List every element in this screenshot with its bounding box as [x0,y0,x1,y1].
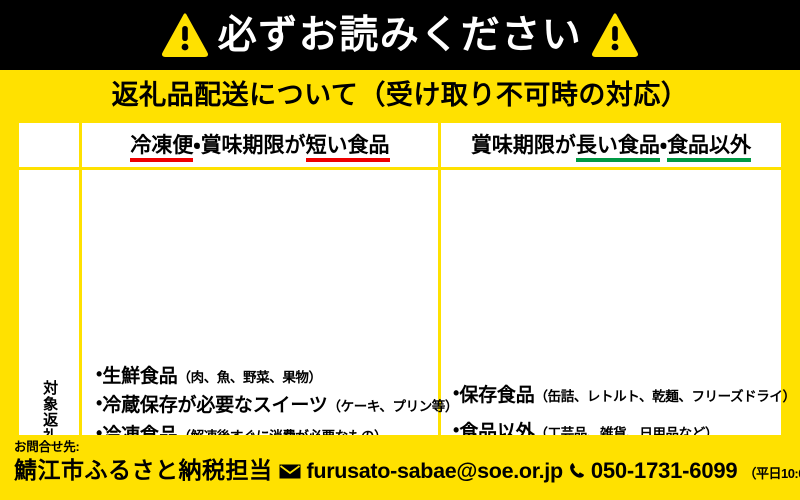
header-short-food: 短い食品 [306,134,390,162]
contact-organization: 鯖江市ふるさと納税担当 [14,458,273,483]
telephone-icon [569,462,585,484]
header-non-food: 食品以外 [667,134,751,162]
header-frozen-delivery: 冷凍便 [130,134,193,162]
column-header-short-shelf-life: 冷凍便・賞味期限が短い食品 [82,123,438,167]
list-item-main: 生鮮食品 [102,366,177,387]
contact-email[interactable]: furusato-sabae@soe.or.jp [307,460,563,484]
envelope-icon [279,464,301,484]
poster-root: 必ずお読みください 返礼品配送について（受け取り不可時の対応） 冷凍便・賞味期限… [0,0,800,500]
contact-footer: お問合せ先: 鯖江市ふるさと納税担当 furusato-sabae@soe.or… [0,435,800,500]
list-item: •生鮮食品（肉、魚、野菜、果物） [96,364,430,388]
list-item: •冷蔵保存が必要なスイーツ（ケーキ、プリン等） [96,393,430,417]
header-separator-right: ・ [660,134,667,157]
contact-phone[interactable]: 050-1731-6099 [591,459,738,483]
headline-title: 返礼品配送について（受け取り不可時の対応） [112,82,689,109]
table-header-row: 冷凍便・賞味期限が短い食品 賞味期限が長い食品・食品以外 [19,123,781,167]
header-best-before-prefix: 賞味期限が [201,134,306,157]
warning-triangle-icon [592,13,638,57]
list-item: •保存食品（缶詰、レトルト、乾麺、フリーズドライ） [453,383,773,407]
top-banner: 必ずお読みください [0,0,800,70]
banner-title: 必ずお読みください [218,16,583,55]
header-separator: ・ [193,134,200,157]
list-item-note: （ケーキ、プリン等） [328,399,458,414]
contact-label: お問合せ先: [14,441,786,455]
list-item-note: （肉、魚、野菜、果物） [178,370,322,385]
list-item-main: 冷蔵保存が必要なスイーツ [102,395,327,416]
contact-hours: （平日10:00-17:00対応） [743,467,800,481]
warning-triangle-icon [162,13,208,57]
table-corner-cell [19,123,79,167]
header-best-before-prefix-right: 賞味期限が [471,134,576,157]
header-long-food: 長い食品 [576,134,660,162]
column-header-long-shelf-life: 賞味期限が長い食品・食品以外 [441,123,781,167]
comparison-table: 冷凍便・賞味期限が短い食品 賞味期限が長い食品・食品以外 対象返礼品 [16,120,784,435]
list-item-note: （缶詰、レトルト、乾麺、フリーズドライ） [535,389,796,404]
list-item-main: 保存食品 [459,385,534,406]
headline-bar: 返礼品配送について（受け取り不可時の対応） [0,70,800,120]
